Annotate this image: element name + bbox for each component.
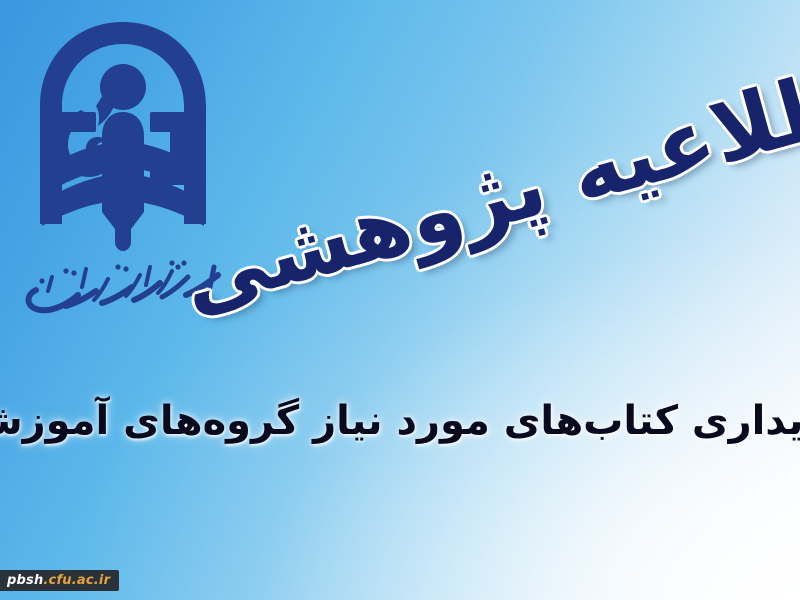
main-title-text: اطلاعیه پژوهشی <box>170 39 800 334</box>
poster-main-title: اطلاعیه پژوهشی <box>294 13 772 359</box>
logo-wordmark-icon <box>22 257 226 319</box>
watermark-site-name: pbsh <box>7 573 43 588</box>
poster-headline: خریداری کتاب‌های مورد نیاز گروه‌های آموز… <box>0 386 800 456</box>
site-watermark: pbsh.cfu.ac.ir <box>0 570 119 591</box>
headline-text: خریداری کتاب‌های مورد نیاز گروه‌های آموز… <box>0 396 800 446</box>
logo-emblem-icon <box>18 14 228 264</box>
watermark-site-domain: .cfu.ac.ir <box>43 573 110 588</box>
university-logo: دانشگاه فرهنگیان <box>18 14 228 314</box>
announcement-poster: دانشگاه فرهنگیان اطلاعیه پژوهشی خریداری … <box>0 0 800 600</box>
